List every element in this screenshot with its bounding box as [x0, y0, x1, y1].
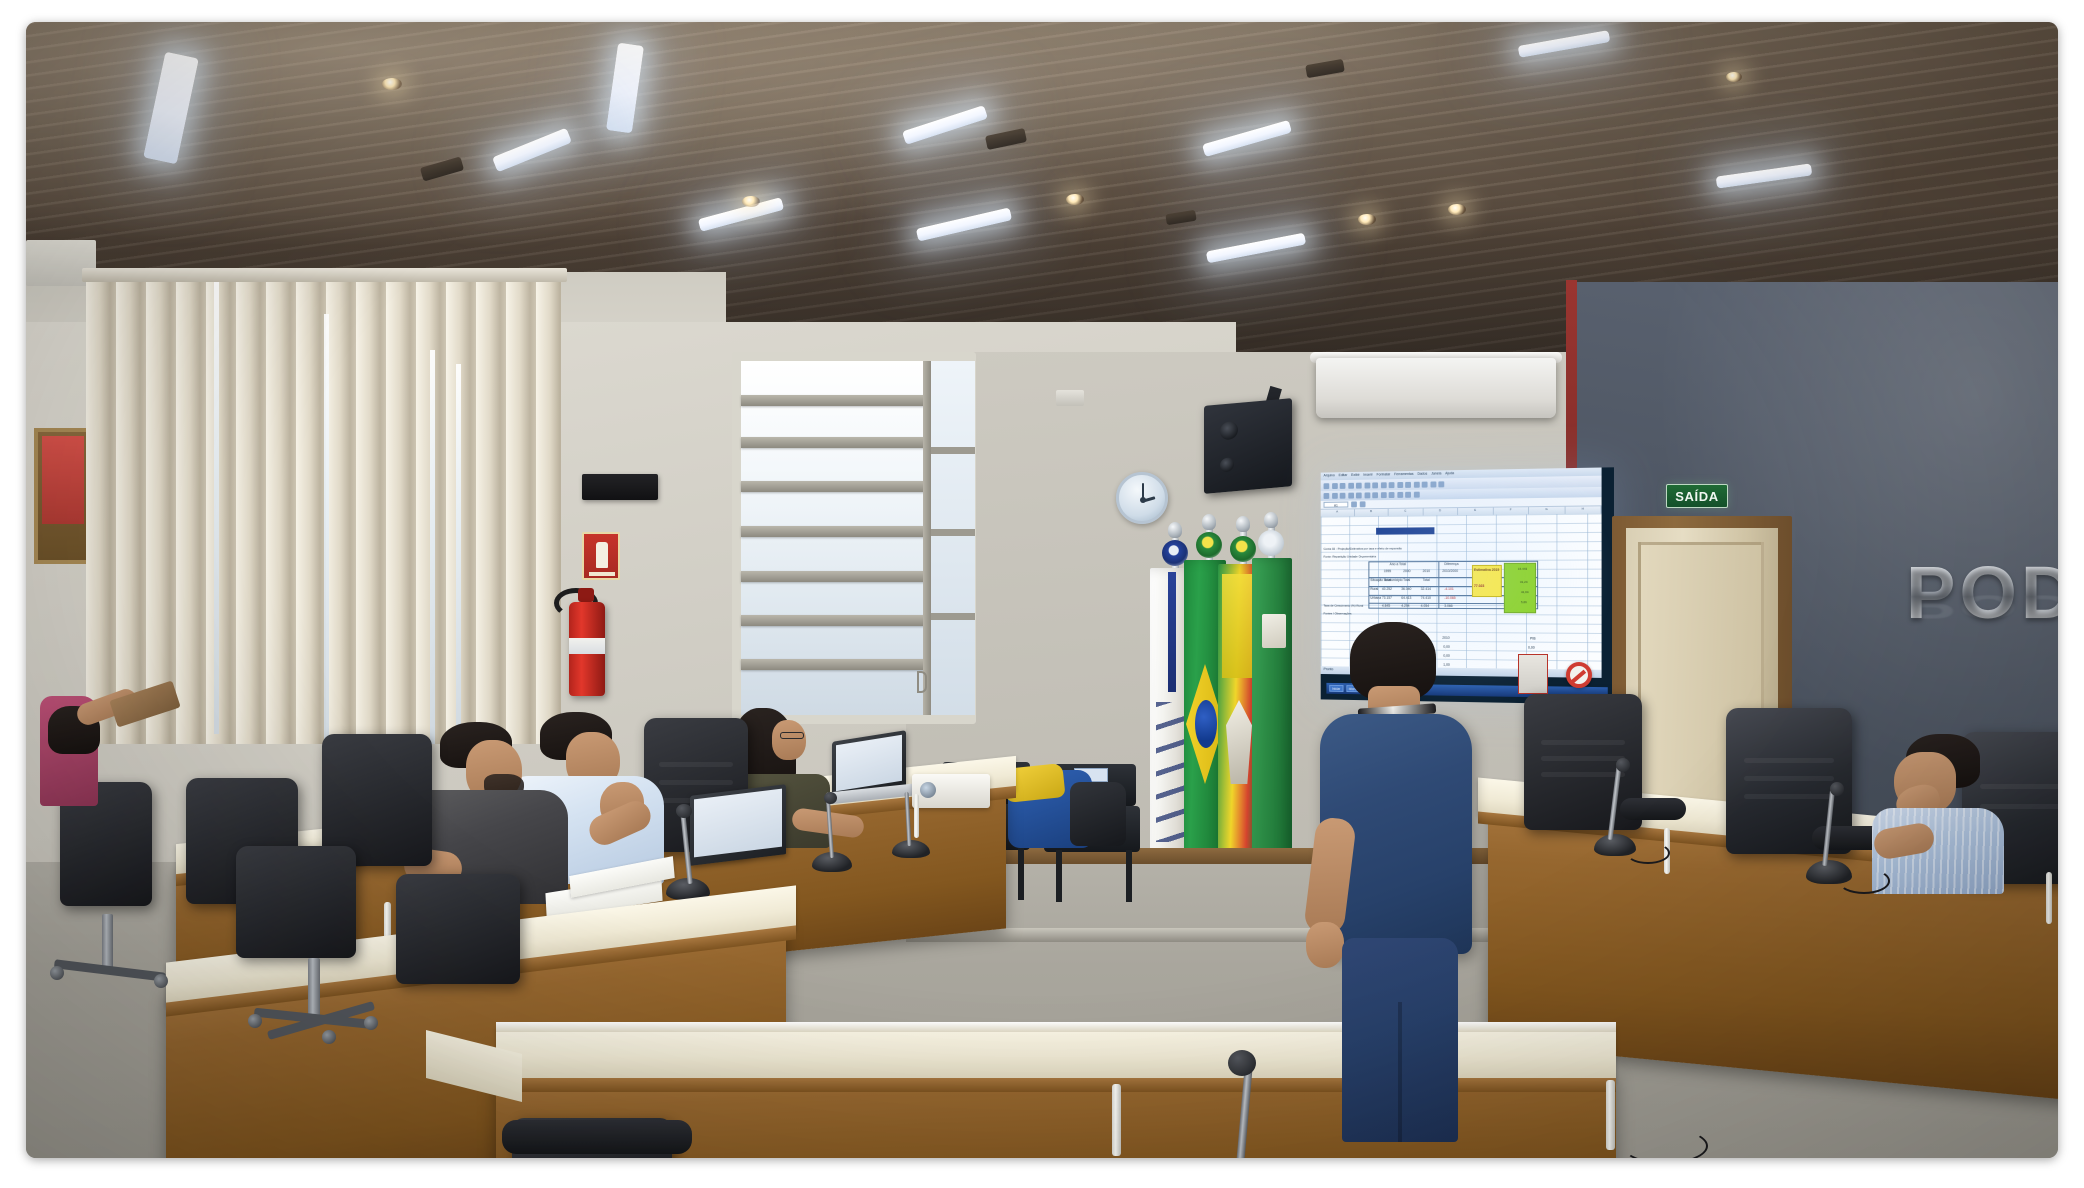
photograph: Arquivo Editar Exibir Inserir Formatar F… — [26, 22, 2058, 1158]
microphone-head — [1830, 782, 1844, 796]
wall-sensor — [1056, 390, 1084, 406]
save-icon[interactable] — [1340, 482, 1346, 488]
chair-gas-post — [308, 958, 320, 1018]
year-sub-header: Total — [1423, 579, 1430, 582]
row-label: Rural — [1370, 588, 1378, 591]
menu-item[interactable]: Janela — [1431, 473, 1441, 477]
window-side-bar — [931, 447, 975, 454]
cut-icon[interactable] — [1364, 482, 1370, 488]
cell-value: 40.252 — [1382, 588, 1392, 591]
new-icon[interactable] — [1324, 483, 1330, 489]
flagpole-finial — [1202, 514, 1216, 530]
person-hand-left — [1306, 922, 1344, 968]
align-left-icon[interactable] — [1348, 493, 1354, 499]
cell-value: 4.054 — [1421, 605, 1429, 608]
flag-rosette — [1258, 530, 1284, 556]
chair-caster — [248, 1014, 262, 1028]
speaker-driver-icon — [1220, 457, 1234, 472]
blind-light-gap — [430, 350, 435, 744]
black-bag — [1070, 782, 1126, 846]
chair-caster — [50, 966, 64, 980]
window-side-bar — [931, 529, 975, 536]
microphone-head — [676, 804, 692, 818]
nameplate-post — [1606, 1080, 1615, 1150]
blinds-headrail[interactable] — [82, 268, 567, 282]
louvered-window — [732, 352, 976, 724]
underline-icon[interactable] — [1340, 493, 1346, 499]
window-latch[interactable] — [917, 671, 927, 693]
window-mullion — [923, 361, 931, 715]
menu-item[interactable]: Ferramentas — [1394, 473, 1413, 477]
cell-value: 32.414 — [1421, 588, 1431, 591]
air-conditioner — [1316, 358, 1556, 418]
chair-gas-post — [102, 914, 113, 970]
microphone-cable — [1626, 842, 1670, 864]
no-smoking-sign-plate — [1518, 654, 1548, 694]
group-header-right: Diferença — [1444, 563, 1458, 566]
clock-center — [1140, 497, 1146, 503]
person-presenter-standing — [1306, 622, 1488, 1142]
menu-item[interactable]: Arquivo — [1324, 475, 1335, 479]
recessed-downlight — [1448, 204, 1466, 215]
microphone-head — [1228, 1050, 1256, 1076]
menu-item[interactable]: Formatar — [1377, 474, 1391, 478]
microphone-cable — [1622, 1128, 1708, 1158]
chair-stitch-line — [1541, 740, 1626, 745]
currency-icon[interactable] — [1380, 492, 1386, 498]
row-label: Taxa de Crescimento (%) Rural — [1324, 605, 1364, 608]
percent-icon[interactable] — [1389, 492, 1395, 498]
open-icon[interactable] — [1332, 483, 1338, 489]
speaker-driver-icon — [1220, 421, 1238, 441]
person-trouser-crease — [1398, 1002, 1402, 1142]
align-center-icon[interactable] — [1356, 493, 1362, 499]
flag-white-stripe — [1168, 572, 1176, 692]
year-col-header: 2000 — [1403, 570, 1410, 573]
person-seated-right — [1872, 734, 2022, 894]
green-cell-value: 31,24 — [1520, 581, 1528, 584]
right-note-bottom: 0,00 — [1528, 647, 1535, 651]
zoom-icon[interactable] — [1430, 481, 1436, 487]
microphone-head — [824, 792, 837, 804]
exit-sign: SAÍDA — [1666, 484, 1728, 508]
chair-right-1-arm — [1620, 798, 1686, 820]
preview-icon[interactable] — [1356, 482, 1362, 488]
no-smoking-icon — [1566, 662, 1592, 688]
cell-diff: -4.101 — [1444, 588, 1453, 591]
wall-mounted-panel — [582, 474, 658, 500]
merge-cells-icon[interactable] — [1372, 492, 1378, 498]
vertical-blinds[interactable] — [86, 274, 561, 744]
recessed-downlight — [382, 78, 402, 90]
cell-value: 74.410 — [1421, 597, 1431, 600]
chair-caster — [154, 974, 168, 988]
fire-extinguisher-sign — [582, 532, 620, 580]
chair-foreground-arm — [502, 1120, 692, 1154]
fill-color-icon[interactable] — [1405, 492, 1411, 498]
border-icon[interactable] — [1397, 492, 1403, 498]
selected-cell[interactable] — [1376, 527, 1434, 534]
menu-item[interactable]: Exibir — [1351, 474, 1359, 478]
paste-icon[interactable] — [1380, 482, 1386, 488]
sheet-subtitle: Fonte: Repartição Unidade Orçamentária — [1324, 555, 1440, 558]
nameplate-post — [1112, 1084, 1121, 1156]
row-label: Situação do município — [1370, 579, 1402, 582]
flagpole-finial — [1236, 516, 1250, 532]
green-cell-value: 41,04 — [1521, 591, 1529, 594]
print-icon[interactable] — [1348, 482, 1354, 488]
year-sub-header: Total — [1403, 579, 1410, 582]
flag-white-emblem — [1156, 702, 1184, 842]
recessed-downlight — [1358, 214, 1376, 225]
cell-value: 4.845 — [1382, 605, 1390, 608]
wall-speaker — [1204, 398, 1292, 494]
section-label: Fontes / Observações — [1324, 612, 1352, 615]
menu-item[interactable]: Dados — [1417, 473, 1427, 477]
green-cell-value: 15.443 — [1518, 568, 1527, 571]
cell-diff: -10.065 — [1444, 597, 1455, 600]
chart-icon[interactable] — [1422, 481, 1428, 487]
projector-lens-icon — [920, 782, 936, 798]
extinguisher-glyph-icon — [596, 542, 608, 568]
blind-light-gap — [456, 364, 461, 744]
cell-diff: 3.066 — [1444, 605, 1452, 608]
chair-stitch-line — [1744, 758, 1835, 763]
waiting-chair-leg — [1018, 848, 1024, 900]
chair-stitch-line — [1744, 776, 1835, 781]
chair-caster — [364, 1016, 378, 1030]
chair-lower-left-2[interactable] — [396, 874, 520, 984]
flag-green-patch — [1262, 614, 1286, 648]
diff-col-header: 2010/2000 — [1442, 570, 1458, 573]
align-right-icon[interactable] — [1364, 492, 1370, 498]
cell-value: 73.157 — [1382, 597, 1392, 600]
extinguisher-valve — [578, 588, 594, 602]
person-glasses-icon — [780, 732, 804, 739]
year-col-header: 2010 — [1423, 570, 1430, 573]
chair-caster — [322, 1030, 336, 1044]
flagpole-finial — [1168, 522, 1182, 538]
nameplate-post — [2046, 872, 2052, 924]
italic-icon[interactable] — [1332, 493, 1338, 499]
blind-light-gap — [324, 314, 329, 744]
accept-formula-icon[interactable] — [1360, 501, 1366, 507]
blind-light-gap — [214, 282, 219, 734]
extinguisher-sign-bar — [589, 572, 615, 576]
row-label: Urbana — [1370, 597, 1381, 600]
name-box[interactable]: A1 — [1324, 502, 1349, 508]
window-side-bar — [931, 613, 975, 620]
person-face — [772, 720, 806, 760]
recessed-downlight — [742, 196, 760, 207]
group-header-left: Ano a Total — [1390, 563, 1406, 566]
redo-icon[interactable] — [1397, 482, 1403, 488]
undo-icon[interactable] — [1389, 482, 1395, 488]
wall-plaque-inner — [42, 436, 84, 524]
flag-group — [1146, 514, 1316, 894]
recessed-downlight — [1726, 72, 1742, 82]
laptop-screen — [694, 789, 782, 858]
sum-icon[interactable] — [1405, 481, 1411, 487]
bold-icon[interactable] — [1324, 493, 1330, 499]
font-color-icon[interactable] — [1413, 492, 1419, 498]
wall-letters-poder: PODER — [1906, 550, 2058, 635]
microphone-cable — [1838, 868, 1890, 894]
chair-stitch-line — [1541, 772, 1626, 777]
flag-brazil-globe — [1195, 700, 1217, 748]
function-wizard-icon[interactable] — [1351, 501, 1357, 507]
chair-stitch-line — [1541, 756, 1626, 761]
cell-value: 4.294 — [1401, 605, 1409, 608]
menu-item[interactable]: Editar — [1339, 474, 1348, 478]
menu-item[interactable]: Ajuda — [1445, 472, 1454, 476]
flag-green — [1252, 558, 1292, 866]
help-icon[interactable] — [1438, 481, 1444, 487]
waiting-chair-leg — [1056, 850, 1062, 902]
waiting-chair-leg — [1126, 850, 1132, 902]
flag-state-band — [1222, 574, 1256, 678]
extinguisher-label-band — [569, 638, 605, 654]
laptop-left[interactable] — [690, 784, 786, 866]
laptop-screen — [836, 735, 902, 791]
person-partial-left — [40, 670, 140, 820]
cell-value: 36.040 — [1401, 588, 1411, 591]
recessed-downlight — [1066, 194, 1084, 205]
cell-value: 64.413 — [1401, 597, 1411, 600]
green-cell-value: 5,66 — [1521, 601, 1527, 604]
estimate-label: Estimativa 2019 — [1474, 569, 1501, 572]
flag-rosette — [1196, 532, 1222, 558]
flagpole-finial — [1264, 512, 1278, 528]
microphone-head — [1616, 758, 1630, 772]
table-colgroup-divider — [1438, 561, 1439, 609]
estimate-value: 77.023 — [1474, 585, 1484, 588]
nameplate-post — [914, 794, 919, 838]
chair-stitch-line — [1744, 794, 1835, 799]
copy-icon[interactable] — [1372, 482, 1378, 488]
right-note-top: PIB — [1530, 638, 1536, 641]
chair-lower-left-1[interactable] — [236, 846, 356, 958]
menu-item[interactable]: Inserir — [1363, 474, 1372, 478]
window-side-pane — [931, 361, 975, 715]
sort-asc-icon[interactable] — [1413, 481, 1419, 487]
year-col-header: 1995 — [1384, 570, 1391, 573]
photo-frame: Arquivo Editar Exibir Inserir Formatar F… — [0, 0, 2084, 1188]
